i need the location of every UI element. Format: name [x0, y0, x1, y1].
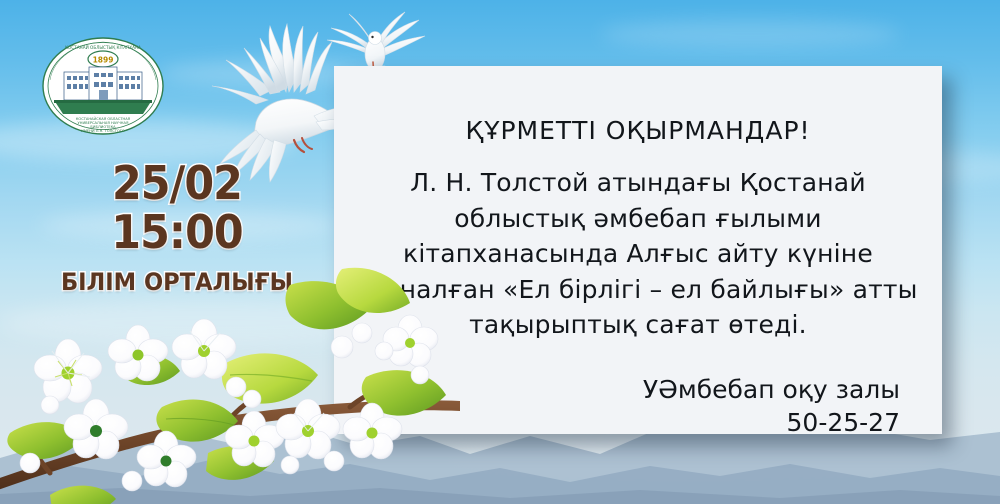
card-footer: УӘмбебап оқу залы 50-25-27: [368, 373, 908, 439]
poster-canvas: КОСТАНАЙ ОБЛЫСТЫҚ КІТАПХАНА 1899: [0, 0, 1000, 504]
card-footer-room: УӘмбебап оқу залы: [368, 373, 900, 406]
announcement-card: ҚҰРМЕТТІ ОҚЫРМАНДАР! Л. Н. Толстой атынд…: [334, 66, 942, 434]
card-footer-phone: 50-25-27: [368, 406, 900, 439]
card-heading: ҚҰРМЕТТІ ОҚЫРМАНДАР!: [368, 116, 908, 145]
card-body-line: облыстық әмбебап ғылыми: [368, 201, 908, 237]
event-date: 25/02: [61, 160, 294, 207]
card-body-line: Л. Н. Толстой атындағы Қостанай: [368, 165, 908, 201]
cloud-decoration: [600, 20, 900, 48]
card-body-line: кітапханасында Алғыс айту күніне: [368, 236, 908, 272]
cloud-decoration: [430, 440, 950, 480]
card-body-line: тақырыптық сағат өтеді.: [368, 307, 908, 343]
svg-text:КОСТАНАЙ ОБЛЫСТЫҚ КІТАПХАНА: КОСТАНАЙ ОБЛЫСТЫҚ КІТАПХАНА: [65, 45, 141, 50]
event-details: 25/02 15:00 БІЛІМ ОРТАЛЫҒЫ: [52, 160, 302, 296]
library-logo: КОСТАНАЙ ОБЛЫСТЫҚ КІТАПХАНА 1899: [42, 36, 164, 136]
card-body-line: арналған «Ел бірлігі – ел байлығы» атты: [368, 272, 908, 308]
card-body: Л. Н. Толстой атындағы Қостанай облыстық…: [368, 165, 908, 343]
svg-text:ИМЕНИ Л.Н. ТОЛСТОГО: ИМЕНИ Л.Н. ТОЛСТОГО: [81, 129, 125, 133]
svg-text:1899: 1899: [93, 55, 114, 64]
event-venue: БІЛІМ ОРТАЛЫҒЫ: [60, 268, 295, 296]
event-time: 15:00: [61, 209, 294, 256]
